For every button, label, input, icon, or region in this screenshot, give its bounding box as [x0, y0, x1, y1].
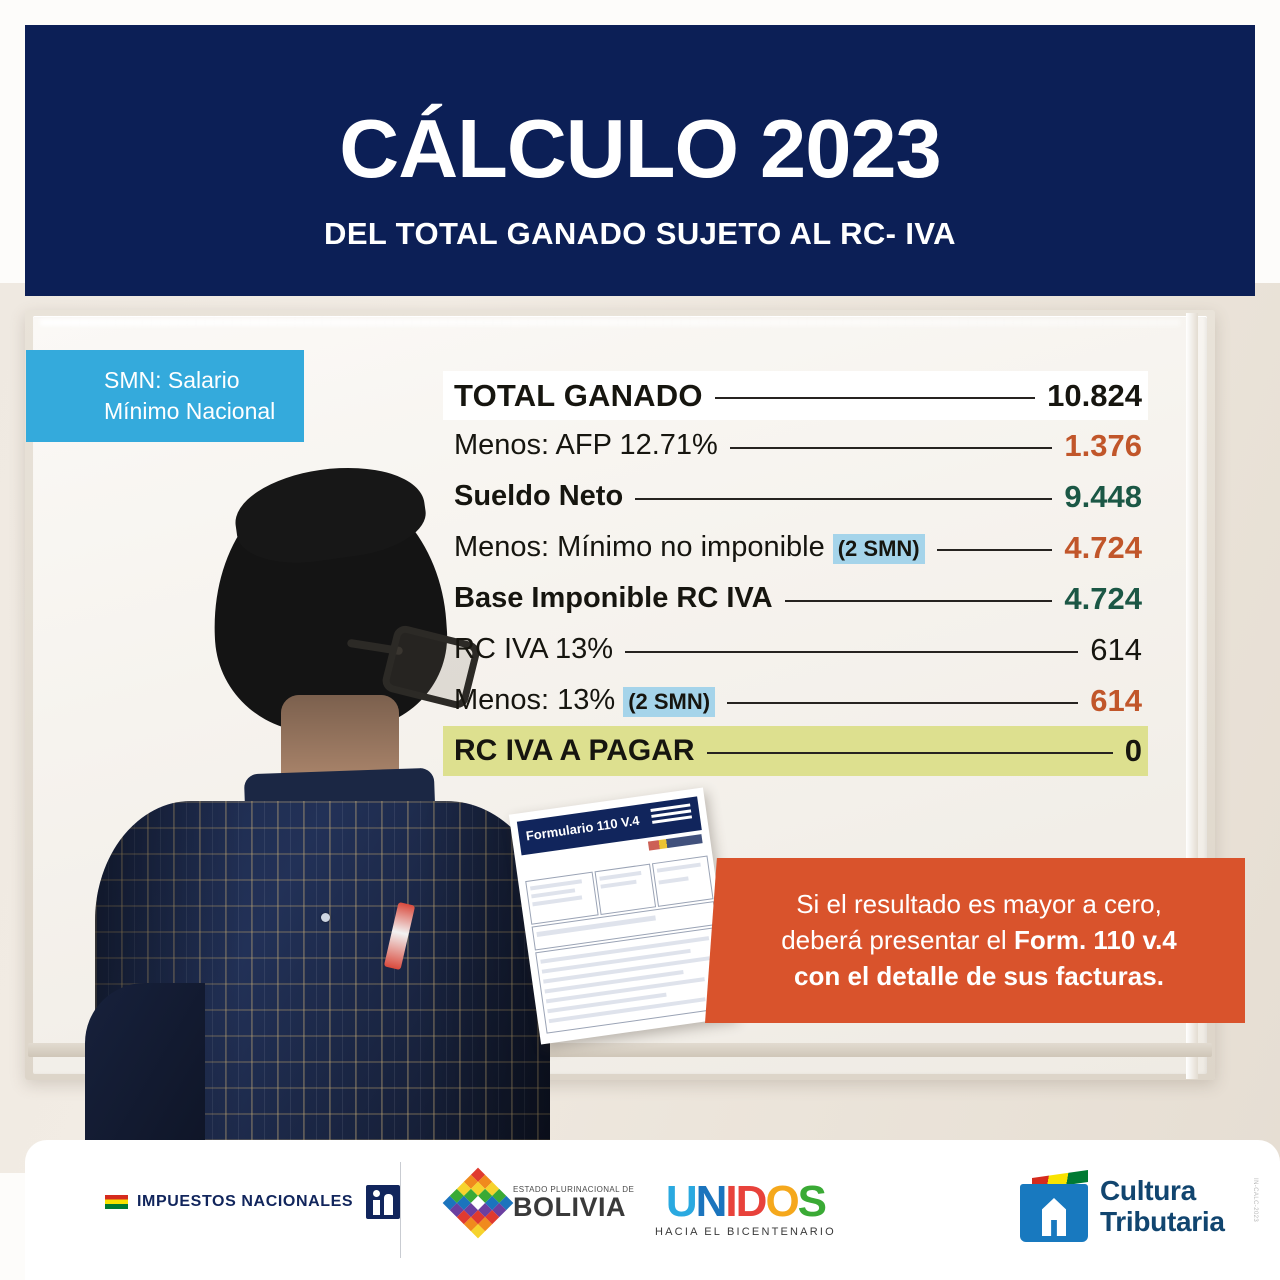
table-row-minimo-no-imponible: Menos: Mínimo no imponible(2 SMN) 4.724 — [443, 522, 1148, 573]
leader-line — [625, 651, 1078, 653]
table-row-menos-13: Menos: 13%(2 SMN) 614 — [443, 675, 1148, 726]
leader-line — [730, 447, 1053, 449]
table-row-rc-iva-13: RC IVA 13% 614 — [443, 624, 1148, 675]
cultura-wordmark: Cultura Tributaria — [1100, 1175, 1225, 1237]
row-label: TOTAL GANADO — [443, 378, 703, 414]
unidos-letter-2: I — [725, 1177, 735, 1226]
row-value: 10.824 — [1047, 378, 1148, 414]
collar-button — [321, 913, 330, 922]
row-label: Menos: 13%(2 SMN) — [443, 684, 715, 717]
page-subtitle: DEL TOTAL GANADO SUJETO AL RC- IVA — [25, 217, 1255, 251]
bolivia-wordmark: ESTADO PLURINACIONAL DE BOLIVIA — [513, 1186, 634, 1221]
leader-line — [937, 549, 1053, 551]
form-title: Formulario 110 V.4 — [525, 813, 640, 844]
title-banner: CÁLCULO 2023 DEL TOTAL GANADO SUJETO AL … — [25, 25, 1255, 296]
row-value: 4.724 — [1064, 581, 1148, 617]
table-row-base-imponible: Base Imponible RC IVA 4.724 — [443, 573, 1148, 624]
row-label: Sueldo Neto — [443, 480, 623, 513]
unidos-letter-4: O — [765, 1177, 797, 1226]
vertical-reference-code: IN-CALC-2023 — [1252, 1178, 1258, 1222]
unidos-letter-3: D — [736, 1177, 766, 1226]
row-label: RC IVA A PAGAR — [443, 734, 695, 768]
callout-line-3: con el detalle de sus facturas. — [794, 961, 1164, 991]
leader-line — [715, 397, 1035, 399]
logo-estado-bolivia: ESTADO PLURINACIONAL DE BOLIVIA — [453, 1178, 634, 1228]
callout-form-name: Form. 110 v.4 — [1014, 925, 1177, 955]
smn-tag: (2 SMN) — [623, 687, 715, 717]
row-value: 614 — [1090, 683, 1148, 719]
smn-legend-badge: SMN: SalarioMínimo Nacional — [26, 350, 304, 442]
row-label: Base Imponible RC IVA — [443, 582, 773, 615]
row-label-text: Menos: Mínimo no imponible — [454, 531, 825, 563]
row-label: Menos: AFP 12.71% — [443, 429, 718, 462]
unidos-letter-5: S — [798, 1177, 825, 1226]
smn-line-1: SMN: Salario — [65, 367, 239, 393]
leader-line — [785, 600, 1053, 602]
callout-line-2-pre: deberá presentar el — [781, 925, 1014, 955]
row-value: 1.376 — [1064, 428, 1148, 464]
bolivia-main-label: BOLIVIA — [513, 1194, 634, 1221]
row-label: Menos: Mínimo no imponible(2 SMN) — [443, 531, 925, 564]
table-row-afp: Menos: AFP 12.71% 1.376 — [443, 420, 1148, 471]
form-header-lines-icon — [650, 803, 692, 826]
callout-line-1: Si el resultado es mayor a cero, — [796, 889, 1162, 919]
row-label: RC IVA 13% — [443, 633, 613, 666]
smn-line-2: Mínimo Nacional — [65, 398, 275, 424]
cultura-book-icon — [1020, 1170, 1088, 1242]
logo-unidos: UNIDOS HACIA EL BICENTENARIO — [655, 1180, 836, 1238]
form-issuer-logo — [648, 834, 703, 850]
logo-impuestos-nacionales: IMPUESTOS NACIONALES — [105, 1185, 400, 1219]
unidos-subtitle: HACIA EL BICENTENARIO — [655, 1226, 836, 1238]
infographic-canvas: CÁLCULO 2023 DEL TOTAL GANADO SUJETO AL … — [0, 0, 1280, 1280]
cultura-line-1: Cultura — [1100, 1175, 1225, 1206]
smn-tag: (2 SMN) — [833, 534, 925, 564]
unidos-letter-0: U — [666, 1177, 696, 1226]
unidos-letter-1: N — [696, 1177, 726, 1226]
smn-legend-text: SMN: SalarioMínimo Nacional — [26, 365, 275, 427]
unidos-wordmark: UNIDOS — [655, 1180, 836, 1224]
formulario-110-document: Formulario 110 V.4 — [509, 787, 735, 1044]
table-row-sueldo-neto: Sueldo Neto 9.448 — [443, 471, 1148, 522]
form110-notice-callout: Si el resultado es mayor a cero, deberá … — [705, 858, 1245, 1023]
wiphala-icon — [443, 1168, 514, 1239]
row-value: 4.724 — [1064, 530, 1148, 566]
leader-line — [635, 498, 1052, 500]
row-label-text: Menos: 13% — [454, 684, 615, 716]
bolivia-flag-icon — [105, 1195, 128, 1209]
row-value: 614 — [1090, 632, 1148, 668]
page-title: CÁLCULO 2023 — [25, 107, 1255, 191]
callout-text: Si el resultado es mayor a cero, deberá … — [705, 858, 1245, 994]
leader-line — [707, 752, 1113, 754]
impuestos-mark-icon — [366, 1185, 400, 1219]
logo-cultura-tributaria: Cultura Tributaria — [1020, 1170, 1225, 1242]
form-field-grid — [524, 848, 727, 1037]
calculation-table: TOTAL GANADO 10.824 Menos: AFP 12.71% 1.… — [443, 371, 1148, 776]
impuestos-label: IMPUESTOS NACIONALES — [137, 1193, 353, 1211]
table-row-rc-iva-a-pagar: RC IVA A PAGAR 0 — [443, 726, 1148, 776]
whiteboard-highlight — [40, 319, 1180, 326]
footer-logo-bar: IMPUESTOS NACIONALES ESTADO PLURINACIONA… — [25, 1140, 1280, 1280]
table-row-total-ganado: TOTAL GANADO 10.824 — [443, 371, 1148, 420]
leader-line — [727, 702, 1078, 704]
cultura-line-2: Tributaria — [1100, 1206, 1225, 1237]
row-value: 9.448 — [1064, 479, 1148, 515]
row-value: 0 — [1125, 733, 1148, 769]
